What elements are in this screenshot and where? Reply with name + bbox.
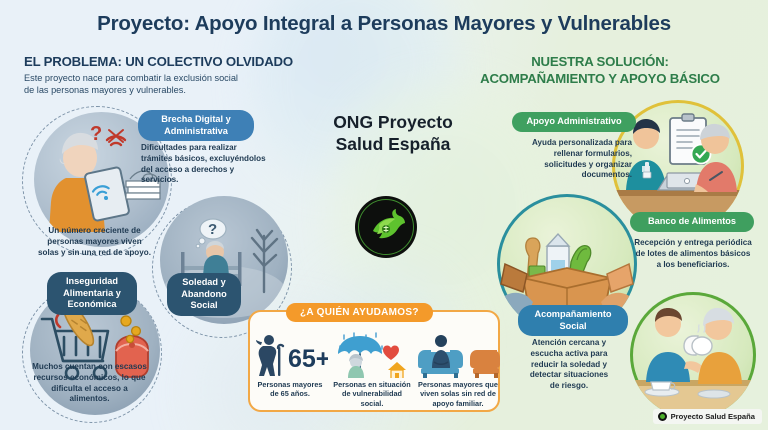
- brand-line-2: Salud España: [298, 134, 488, 156]
- solution-pill-1: Apoyo Administrativo: [512, 112, 636, 132]
- footer-brand-badge: Proyecto Salud España: [653, 409, 762, 424]
- who-we-help-card: 65+ Personas mayores de 65 años.: [248, 310, 500, 412]
- who-art-3: [416, 332, 500, 378]
- problem-pill-1: Brecha Digital y Administrativa: [138, 110, 254, 141]
- problem-column-header: EL PROBLEMA: UN COLECTIVO OLVIDADO Este …: [24, 54, 293, 97]
- svg-text:?: ?: [90, 123, 102, 145]
- who-badge-1: 65+: [288, 345, 328, 373]
- problem-text-3: Muchos cuentan con escasos recursos econ…: [22, 362, 157, 405]
- green-dot-logo-icon: [658, 412, 667, 421]
- who-column-2: Personas en situación de vulnerabilidad …: [330, 332, 414, 410]
- who-art-1: 65+: [252, 332, 328, 378]
- solution-heading-line1: NUESTRA SOLUCIÓN:: [450, 54, 750, 71]
- solution-text-3: Atención cercana y escucha activa para r…: [508, 338, 630, 392]
- dove-glyph-icon: [365, 207, 407, 247]
- problem-text-2: Un número creciente de personas mayores …: [22, 226, 167, 258]
- who-caption-1: Personas mayores de 65 años.: [258, 380, 323, 399]
- solution-column-header: NUESTRA SOLUCIÓN: ACOMPAÑAMIENTO Y APOYO…: [450, 54, 750, 87]
- solution-pill-2: Banco de Alimentos: [630, 212, 754, 232]
- footer-brand-label: Proyecto Salud España: [671, 412, 755, 421]
- problem-subheading: Este proyecto nace para combatir la excl…: [24, 72, 293, 97]
- solution-text-2: Recepción y entrega periódica de lotes d…: [628, 238, 758, 270]
- problem-pill-2: Soledad y Abandono Social: [167, 273, 241, 316]
- solution-heading-line2: ACOMPAÑAMIENTO Y APOYO BÁSICO: [450, 71, 750, 88]
- dove-logo-icon: [355, 196, 417, 258]
- page-title: Proyecto: Apoyo Integral a Personas Mayo…: [0, 12, 768, 36]
- who-we-help-title: ¿A QUIÉN AYUDAMOS?: [286, 303, 433, 322]
- solution-pill-3: Acompañamiento Social: [518, 305, 628, 336]
- problem-pill-3: Inseguridad Alimentaria y Económica: [47, 272, 137, 315]
- who-caption-2: Personas en situación de vulnerabilidad …: [332, 380, 412, 408]
- elderly-person-cane-icon: 65+: [252, 333, 328, 377]
- who-column-1: 65+ Personas mayores de 65 años.: [250, 332, 330, 410]
- who-caption-3: Personas mayores que viven solas sin red…: [418, 380, 498, 408]
- problem-text-1: Dificultades para realizar trámites bási…: [141, 143, 271, 186]
- who-column-3: Personas mayores que viven solas sin red…: [414, 332, 502, 410]
- infographic-canvas: Proyecto: Apoyo Integral a Personas Mayo…: [0, 0, 768, 430]
- who-art-2: [332, 332, 412, 378]
- problem-heading: EL PROBLEMA: UN COLECTIVO OLVIDADO: [24, 54, 293, 69]
- volunteer-elder-coffee-icon: [630, 292, 756, 418]
- umbrella-shelter-heart-home-icon: [332, 332, 412, 378]
- solution-art-3: [630, 292, 756, 418]
- brand-line-1: ONG Proyecto: [298, 112, 488, 134]
- svg-text:?: ?: [208, 221, 217, 238]
- solution-text-1: Ayuda personalizada para rellenar formul…: [506, 138, 632, 181]
- organization-name: ONG Proyecto Salud España: [298, 112, 488, 156]
- person-alone-armchairs-icon: [416, 332, 500, 378]
